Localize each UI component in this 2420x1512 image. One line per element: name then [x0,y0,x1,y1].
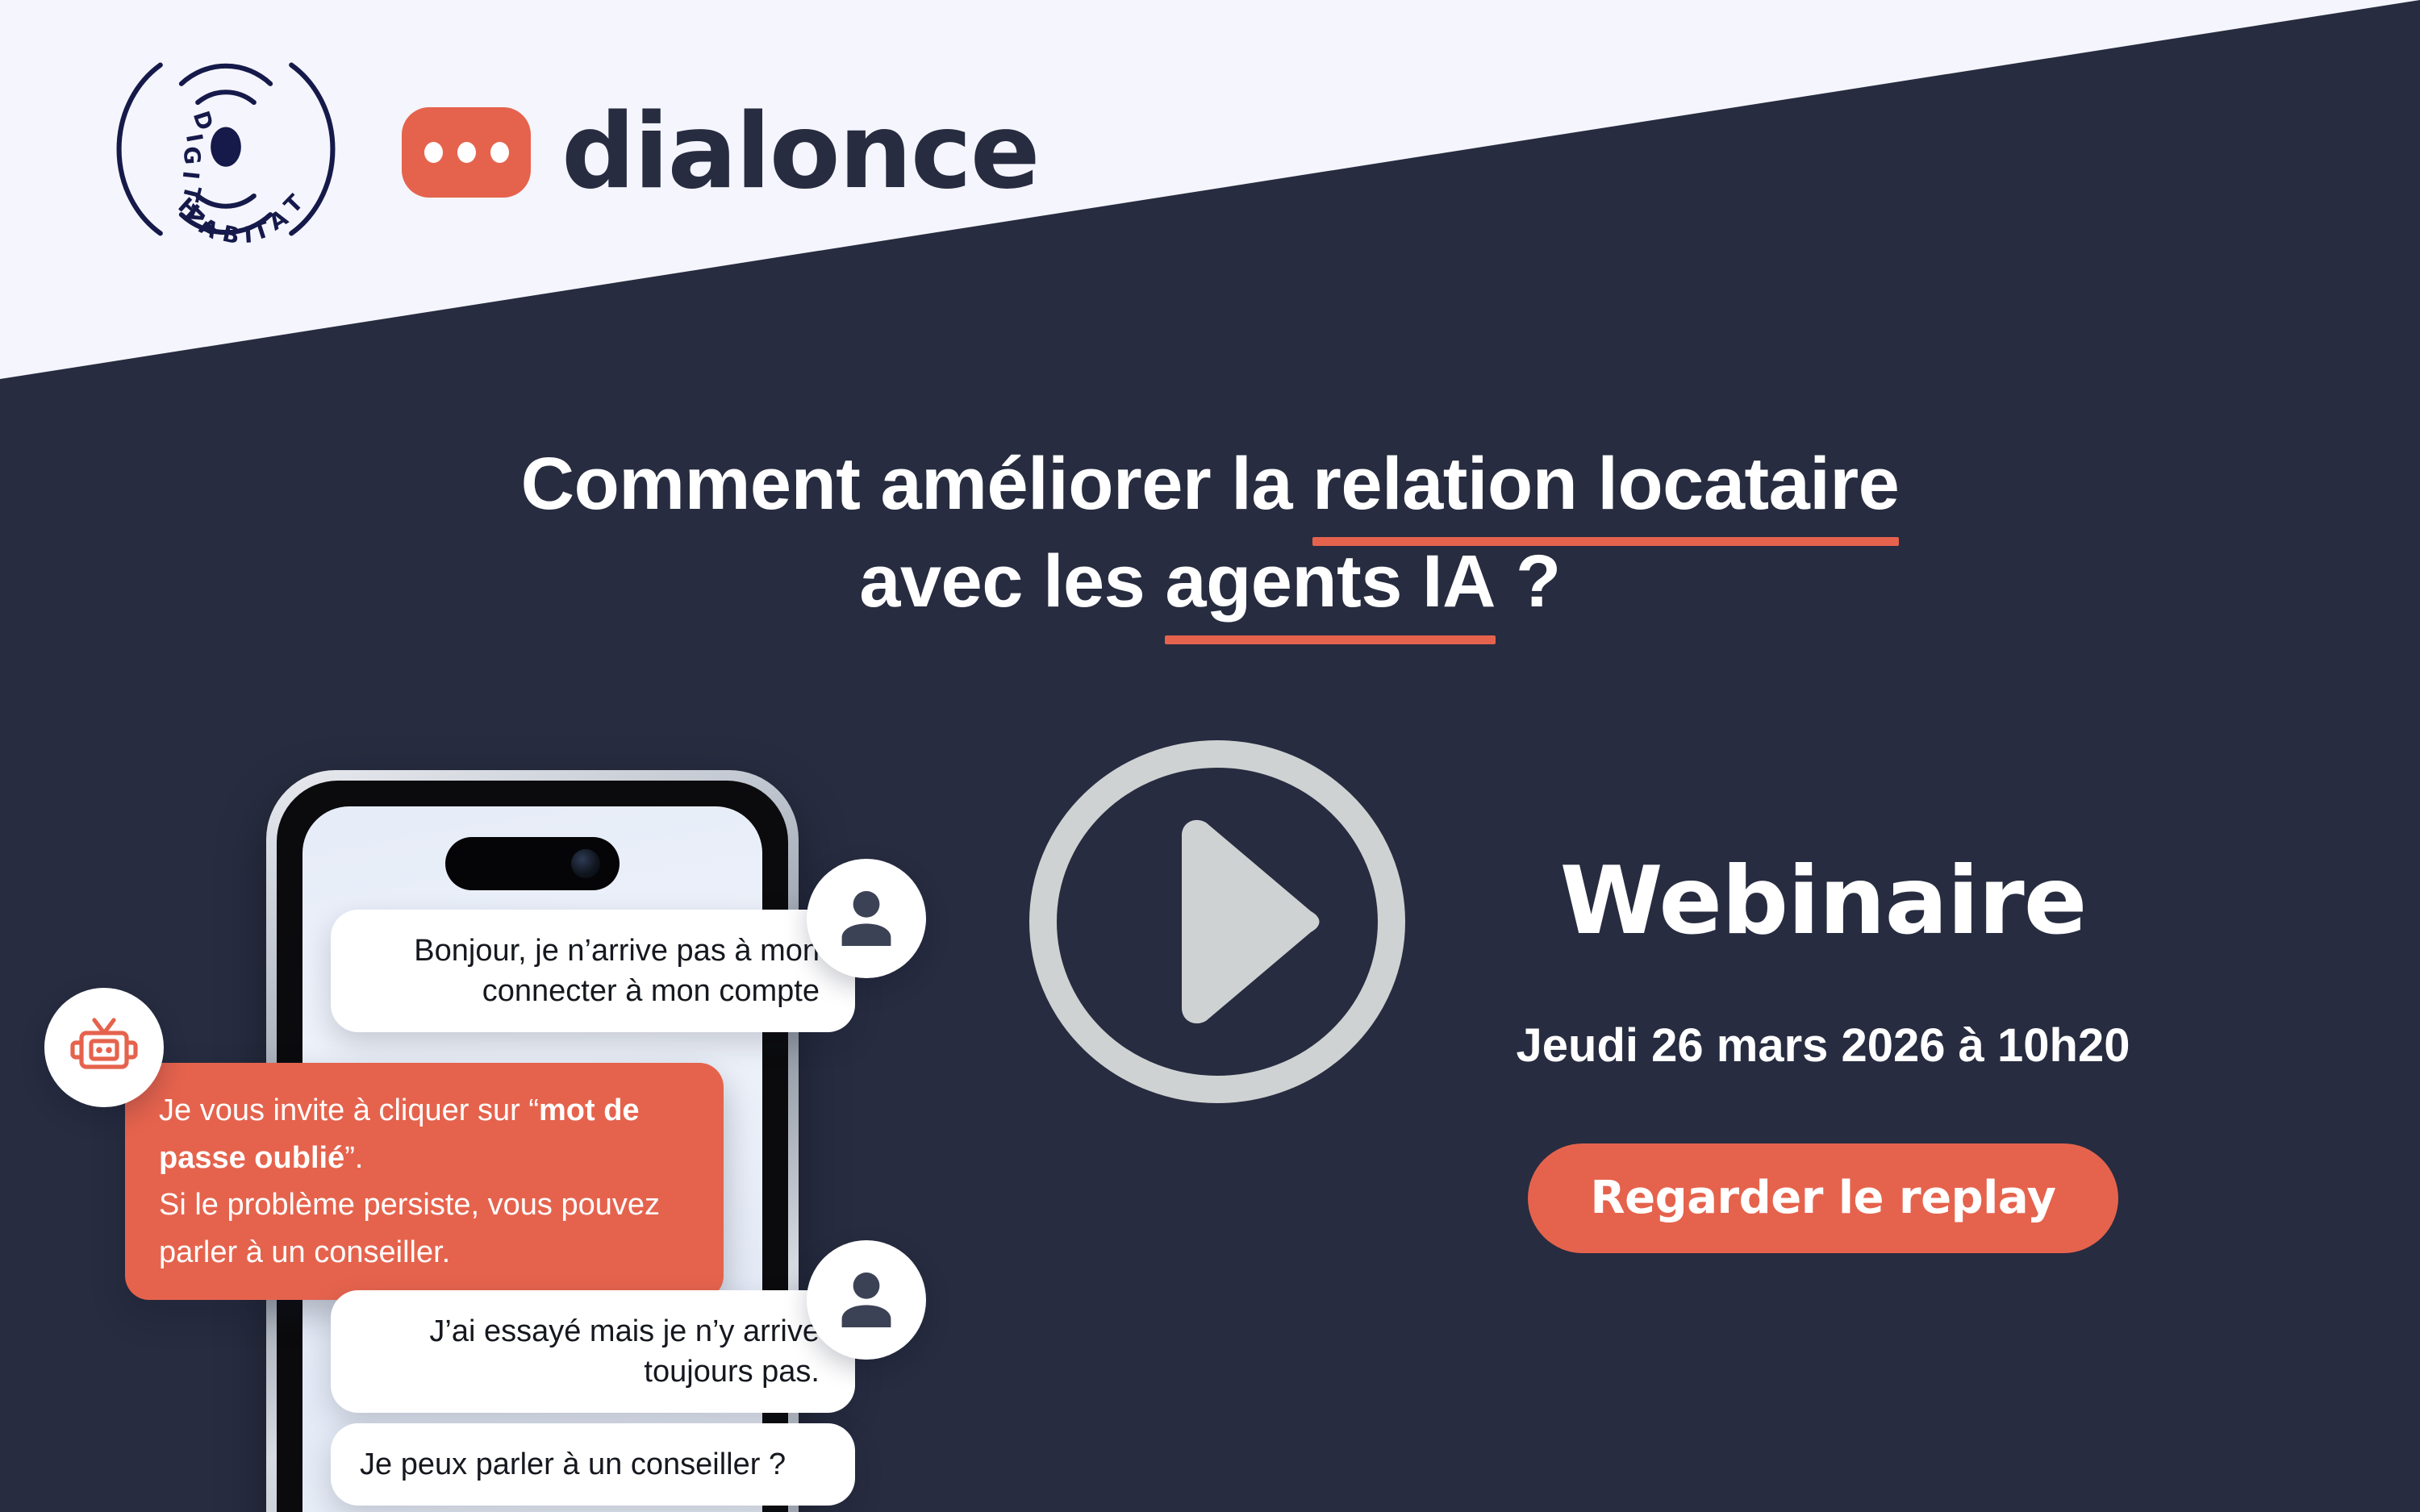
bot-text-part2: ”. [344,1141,363,1175]
chat-dots-icon [402,107,531,198]
headline-line-2-underlined: agents IA [1165,533,1496,631]
dynamic-island [445,837,620,890]
user-avatar-icon [807,1240,926,1360]
headline-line-2-plain: avec les [859,540,1165,623]
webinar-banner: D I G I T A L H A B I T A T DIGITAL HABI… [0,0,2420,1512]
digital-habitat-line2: HABITAT [109,266,110,267]
digital-habitat-logo: D I G I T A L H A B I T A T DIGITAL HABI… [109,32,343,266]
svg-text:B: B [220,221,242,250]
robot-icon [44,988,164,1107]
dialonce-wordmark: dialonce [561,101,1039,204]
headline-line-1: Comment améliorer la relation locataire [0,435,2420,533]
bot-text-part1: Je vous invite à cliquer sur “ [159,1093,539,1127]
dialonce-logo: dialonce [402,101,1039,204]
svg-text:I: I [177,169,204,181]
headline-line-2: avec les agents IA ? [0,533,2420,631]
event-type-label: Webinaire [1500,855,2146,948]
page-title: Comment améliorer la relation locataire … [0,435,2420,631]
digital-habitat-line1: DIGITAL [109,266,110,267]
event-date-label: Jeudi 26 mars 2026 à 10h20 [1500,1023,2146,1069]
watch-replay-button[interactable]: Regarder le replay [1528,1143,2119,1253]
svg-text:D: D [188,108,219,134]
header: D I G I T A L H A B I T A T DIGITAL HABI… [0,0,2420,387]
headline-line-2-tail: ? [1496,540,1561,623]
event-info: Webinaire Jeudi 26 mars 2026 à 10h20 Reg… [1500,855,2146,1253]
play-button[interactable] [1020,732,1414,1111]
chat-bubble-bot: Je vous invite à cliquer sur “mot de pas… [125,1063,724,1300]
svg-text:G: G [178,145,206,165]
headline-line-1-plain: Comment améliorer la [521,443,1312,525]
front-camera-icon [571,849,600,878]
chat-bubble-user: J’ai essayé mais je n’y arrive toujours … [331,1290,855,1413]
chat-bubble-user: Je peux parler à un conseiller ? [331,1423,855,1506]
chat-bubble-user: Bonjour, je n’arrive pas à mon connecter… [331,910,855,1032]
svg-text:I: I [181,131,207,144]
headline-line-1-underlined: relation locataire [1312,435,1899,533]
bot-text-line2: Si le problème persiste, vous pouvez par… [159,1188,660,1269]
user-avatar-icon [807,859,926,978]
